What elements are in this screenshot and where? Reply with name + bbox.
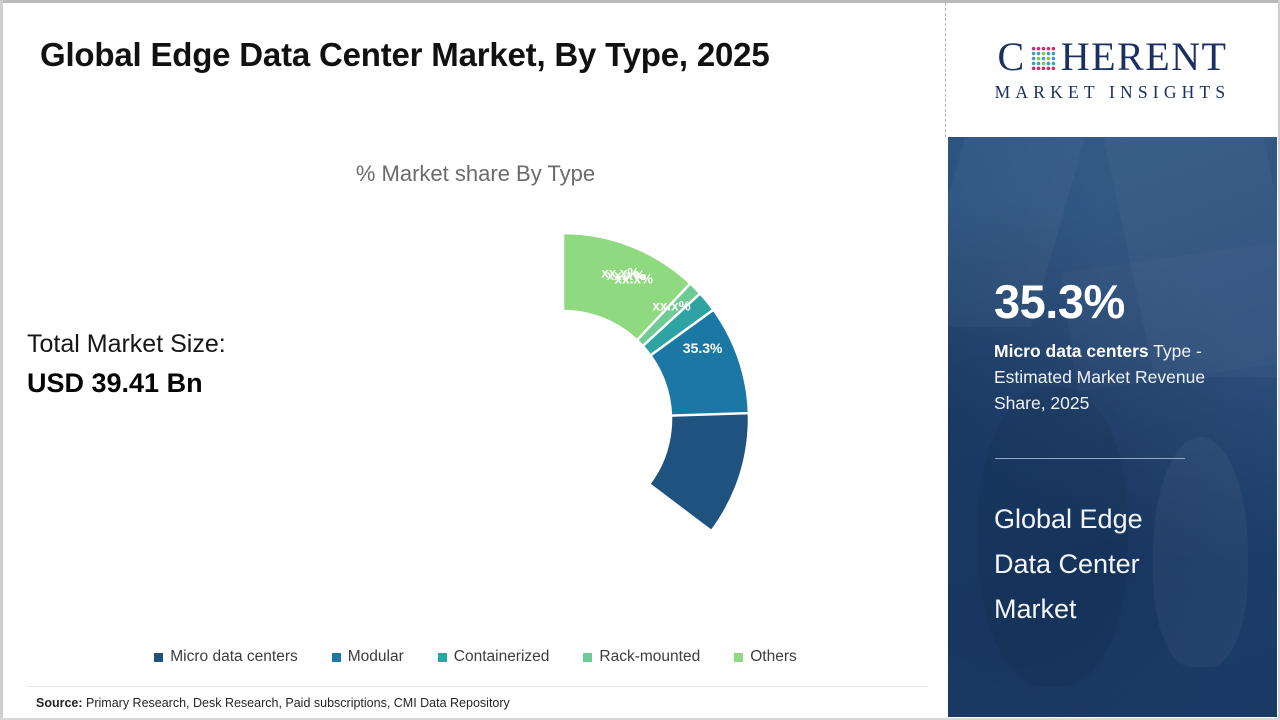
- legend-swatch-icon: [583, 653, 592, 662]
- highlight-stat-block: 35.3% Micro data centers Type - Estimate…: [994, 278, 1256, 416]
- highlight-stat-segment: Micro data centers: [994, 341, 1149, 361]
- donut-slice-label: 35.3%: [683, 340, 723, 356]
- legend-label: Modular: [348, 648, 404, 666]
- panel-dashed-divider: [945, 3, 946, 137]
- donut-chart: 35.3%xx.x%xx.x%xx.x%xx.x%: [377, 233, 749, 605]
- panel-background: 35.3% Micro data centers Type - Estimate…: [948, 137, 1277, 717]
- brand-letters-herent: HERENT: [1061, 37, 1228, 77]
- legend-swatch-icon: [438, 653, 447, 662]
- legend-item[interactable]: Containerized: [438, 648, 550, 666]
- legend-label: Containerized: [454, 648, 550, 666]
- highlight-stat-percent: 35.3%: [994, 278, 1256, 325]
- donut-slice-group: [563, 233, 749, 531]
- donut-slice-label: xx.x%: [601, 266, 639, 281]
- source-label: Source:: [36, 696, 83, 710]
- total-market-size-block: Total Market Size: USD 39.41 Bn: [27, 325, 327, 403]
- chart-legend: Micro data centersModularContainerizedRa…: [3, 648, 948, 666]
- brand-logo: C HERENT MARKET INSIGHTS: [948, 3, 1277, 137]
- legend-swatch-icon: [332, 653, 341, 662]
- panel-market-line-1: Global Edge: [994, 497, 1234, 542]
- infographic-root: Global Edge Data Center Market, By Type,…: [0, 0, 1280, 720]
- legend-swatch-icon: [734, 653, 743, 662]
- total-market-size-label: Total Market Size:: [27, 325, 327, 363]
- panel-market-line-2: Data Center: [994, 542, 1234, 587]
- source-note: Source: Primary Research, Desk Research,…: [36, 696, 510, 710]
- donut-chart-svg: 35.3%xx.x%xx.x%xx.x%xx.x%: [377, 233, 749, 605]
- brand-tagline: MARKET INSIGHTS: [963, 82, 1263, 103]
- panel-divider-rule: [995, 458, 1185, 459]
- legend-item[interactable]: Others: [734, 648, 797, 666]
- brand-wordmark: C HERENT: [963, 37, 1263, 77]
- brand-letter-c: C: [998, 37, 1026, 77]
- highlight-stat-description: Micro data centers Type - Estimated Mark…: [994, 338, 1256, 416]
- legend-label: Others: [750, 648, 797, 666]
- donut-slice-label: xx.x%: [652, 299, 690, 314]
- panel-market-name: Global Edge Data Center Market: [994, 497, 1234, 632]
- page-title: Global Edge Data Center Market, By Type,…: [40, 36, 769, 74]
- legend-swatch-icon: [154, 653, 163, 662]
- legend-item[interactable]: Micro data centers: [154, 648, 298, 666]
- dotted-globe-icon: [1027, 42, 1060, 75]
- legend-label: Rack-mounted: [599, 648, 700, 666]
- legend-label: Micro data centers: [170, 648, 298, 666]
- legend-item[interactable]: Rack-mounted: [583, 648, 700, 666]
- panel-market-line-3: Market: [994, 587, 1234, 632]
- source-divider: [27, 686, 927, 687]
- left-content-pane: Global Edge Data Center Market, By Type,…: [3, 3, 948, 717]
- chart-subtitle: % Market share By Type: [3, 161, 948, 187]
- total-market-size-value: USD 39.41 Bn: [27, 363, 327, 403]
- legend-item[interactable]: Modular: [332, 648, 404, 666]
- right-panel: C HERENT MARKET INSIGHTS 35.3% Mi: [948, 3, 1277, 717]
- source-text: Primary Research, Desk Research, Paid su…: [83, 696, 510, 710]
